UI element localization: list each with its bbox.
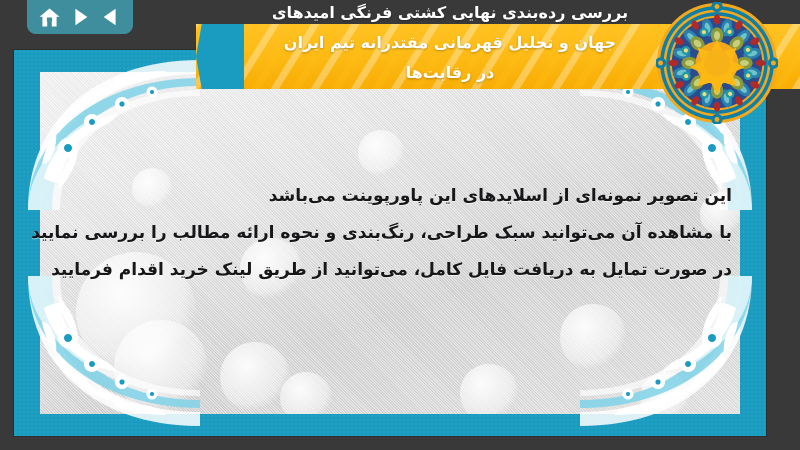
bokeh-circle [280, 372, 332, 414]
title-banner-arrow-tab [196, 24, 244, 89]
body-line-2: با مشاهده آن می‌توانید سبک طراحی، رنگ‌بن… [14, 215, 732, 252]
bokeh-circle [560, 304, 626, 370]
home-button[interactable] [36, 5, 62, 29]
bokeh-circle [460, 364, 518, 414]
slide-navigation-bar [27, 0, 133, 34]
body-line-3: در صورت تمایل به دریافت فایل کامل، می‌تو… [14, 252, 732, 289]
bokeh-circle [358, 130, 404, 176]
next-slide-button[interactable] [67, 5, 93, 29]
bokeh-circle [114, 320, 208, 414]
previous-slide-button[interactable] [98, 5, 124, 29]
slide-stage: این تصویر نمونه‌ای از اسلایدهای این پاور… [0, 0, 800, 450]
body-line-1: این تصویر نمونه‌ای از اسلایدهای این پاور… [14, 178, 732, 215]
title-banner [196, 24, 800, 89]
bokeh-circle [220, 342, 290, 412]
slide-frame: این تصویر نمونه‌ای از اسلایدهای این پاور… [14, 50, 766, 436]
slide-body-text: این تصویر نمونه‌ای از اسلایدهای این پاور… [14, 178, 732, 289]
bokeh-circle [640, 372, 690, 414]
